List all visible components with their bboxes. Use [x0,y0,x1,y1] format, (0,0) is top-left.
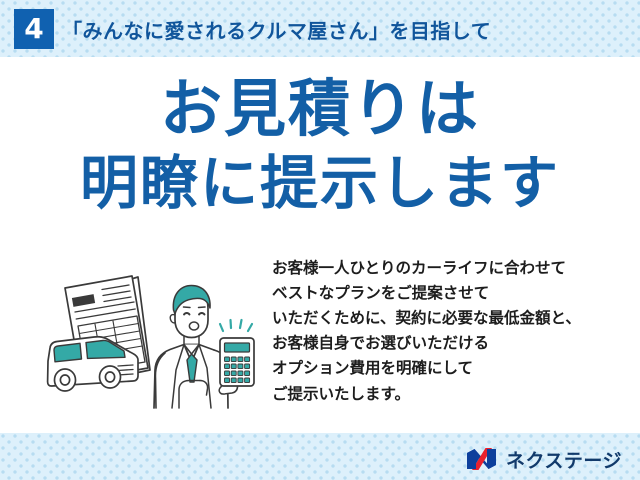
illustration-svg [34,258,266,418]
logo-wordmark: ネクステージ [506,446,622,473]
calculator [220,338,254,386]
headline: お見積りは 明瞭に提示します [0,78,640,212]
nextage-n-logo-icon [465,447,499,471]
footer-logo: ネクステージ [465,447,622,471]
header-title: 「みんなに愛されるクルマ屋さん」を目指して [62,9,491,49]
headline-line-1: お見積りは [0,78,640,140]
step-number-badge: 4 [14,9,54,49]
body-copy-line-4: お客様自身でお選びいただける [272,331,624,356]
body-copy-line-5: オプション費用を明確にして [272,356,624,381]
illustration [34,258,266,418]
body-copy-line-2: ベストなプランをご提案させて [272,281,624,306]
body-copy: お客様一人ひとりのカーライフに合わせて ベストなプランをご提案させて いただくた… [272,256,624,407]
body-copy-line-6: ご提示いたします。 [272,382,624,407]
promotional-banner: 4 「みんなに愛されるクルマ屋さん」を目指して お見積りは 明瞭に提示します お… [0,0,640,480]
body-copy-line-3: いただくために、契約に必要な最低金額と、 [272,306,624,331]
sparkle-lines [220,320,252,331]
headline-line-2: 明瞭に提示します [0,154,640,212]
body-copy-line-1: お客様一人ひとりのカーライフに合わせて [272,256,624,281]
